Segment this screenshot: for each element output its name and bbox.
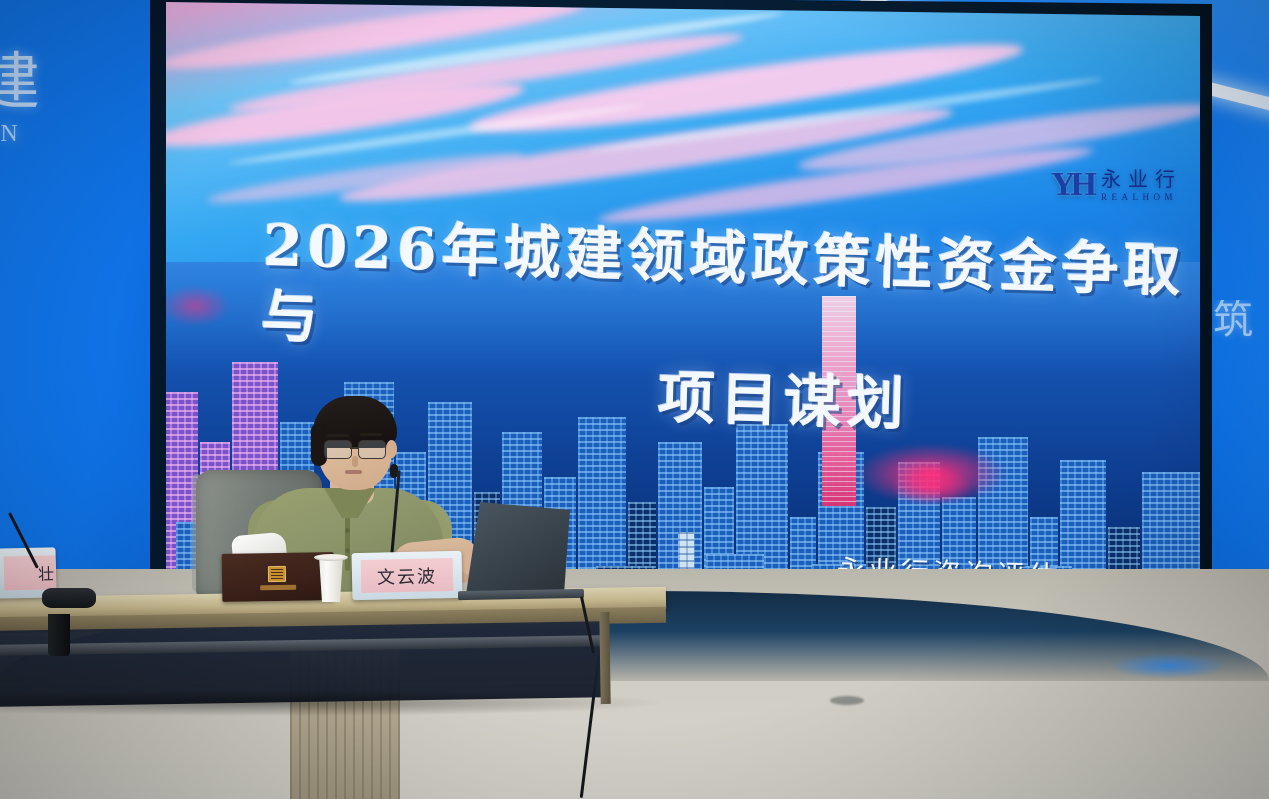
shirt-button [345, 548, 350, 553]
wall-signage-left: 建 AN [0, 52, 64, 212]
conference-room-scene: 建 AN 筑 [0, 0, 1269, 799]
slide-title: 2026年城建领域政策性资金争取与 项目谋划 [258, 211, 1194, 449]
wall-signage-right: 筑 [1213, 300, 1253, 380]
paper-cup-rim [314, 554, 348, 561]
wall-sign-roman: AN [0, 122, 64, 146]
person-eyebrow-right [360, 433, 382, 436]
logo-english-name: REALHOM [1101, 193, 1182, 202]
microphone-stem-left [48, 614, 70, 656]
floor-marker [830, 696, 864, 705]
person-nose [352, 456, 358, 467]
slide-logo: YH 永业行 REALHOM [1051, 168, 1182, 202]
nameplate-primary: 文云波 [352, 551, 463, 600]
eyeglasses-icon [324, 440, 390, 457]
desk-shadow [0, 690, 660, 716]
slide-title-line-1: 2026年城建领域政策性资金争取与 [260, 211, 1194, 378]
tissue-box-text [260, 585, 296, 591]
person-mouth [345, 470, 362, 474]
nameplate-secondary-text: 壮 [4, 555, 57, 590]
tissue-box-emblem-icon [268, 566, 286, 582]
microphone-base-left [42, 588, 96, 608]
logo-chinese-name: 永业行 [1101, 169, 1182, 189]
wall-sign-char: 建 [0, 48, 42, 117]
laptop [466, 502, 570, 594]
person-eyebrow-left [327, 434, 349, 437]
nameplate-primary-text: 文云波 [361, 558, 454, 593]
shirt-button [345, 528, 350, 533]
floor-reflection [1109, 653, 1229, 679]
yh-logo-mark: YH [1051, 168, 1092, 202]
